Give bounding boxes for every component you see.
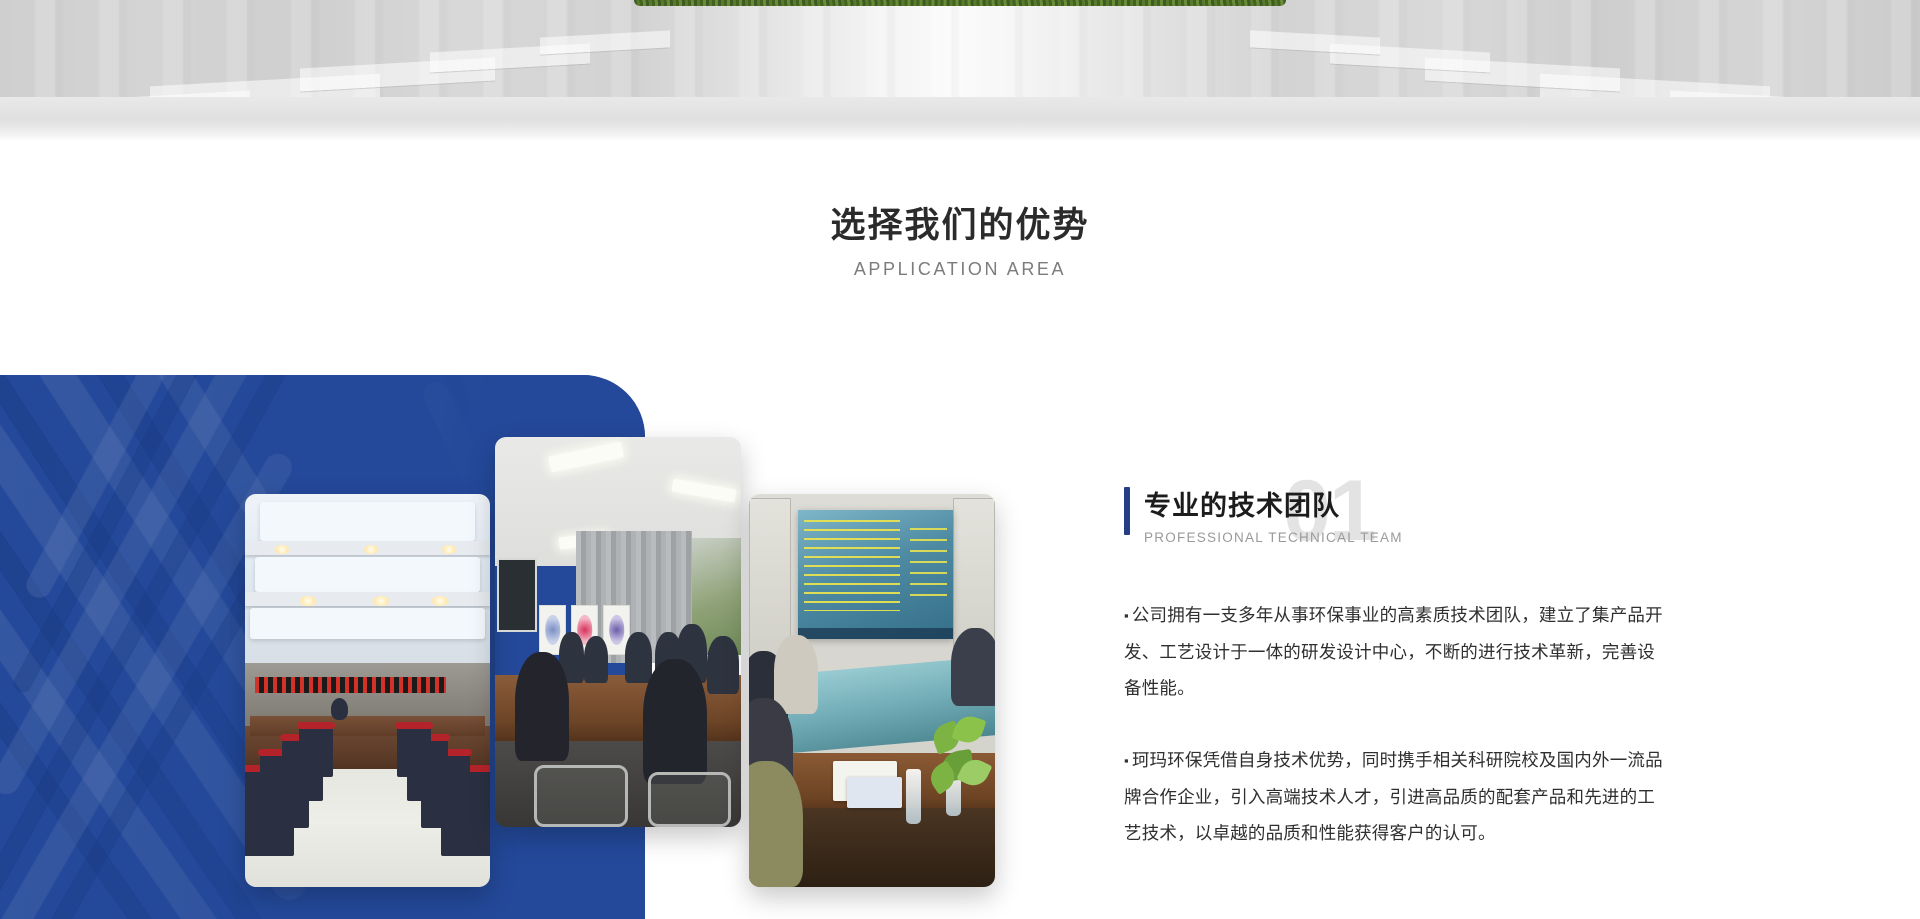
section-heading: 选择我们的优势 APPLICATION AREA	[0, 205, 1920, 280]
feature-paragraph-1-text: 公司拥有一支多年从事环保事业的高素质技术团队，建立了集产品开发、工艺设计于一体的…	[1124, 605, 1663, 698]
photo-lecture-hall[interactable]	[245, 494, 490, 887]
bullet-marker: ▪	[1124, 753, 1129, 768]
whiteboard	[497, 558, 536, 632]
feature-paragraph-2-text: 珂玛环保凭借自身技术优势，同时携手相关科研院校及国内外一流品牌合作企业，引入高端…	[1124, 750, 1663, 843]
feature-paragraph-2: ▪珂玛环保凭借自身技术优势，同时携手相关科研院校及国内外一流品牌合作企业，引入高…	[1124, 742, 1664, 851]
advantage-section-page: 选择我们的优势 APPLICATION AREA	[0, 0, 1920, 919]
feature-title-en: PROFESSIONAL TECHNICAL TEAM	[1144, 530, 1664, 545]
section-title: 选择我们的优势	[0, 205, 1920, 247]
potted-plant	[926, 714, 992, 816]
led-banner	[255, 677, 446, 694]
feature-title-cn: 专业的技术团队	[1144, 484, 1664, 523]
feature-content: 01 专业的技术团队 PROFESSIONAL TECHNICAL TEAM ▪…	[1124, 484, 1664, 851]
hero-banner	[0, 0, 1920, 143]
photo-meeting-room[interactable]	[495, 437, 741, 827]
bullet-marker: ▪	[1124, 608, 1129, 623]
feature-paragraph-1: ▪公司拥有一支多年从事环保事业的高素质技术团队，建立了集产品开发、工艺设计于一体…	[1124, 597, 1664, 706]
section-subtitle: APPLICATION AREA	[0, 259, 1920, 280]
accent-bar	[1124, 487, 1130, 535]
banner-foliage-strip	[634, 0, 1286, 6]
head-table	[250, 716, 485, 736]
feature-heading: 01 专业的技术团队 PROFESSIONAL TECHNICAL TEAM	[1124, 484, 1664, 545]
photo-presentation[interactable]	[749, 494, 995, 887]
projection-screen	[798, 510, 953, 640]
banner-bottom-fade	[0, 119, 1920, 143]
